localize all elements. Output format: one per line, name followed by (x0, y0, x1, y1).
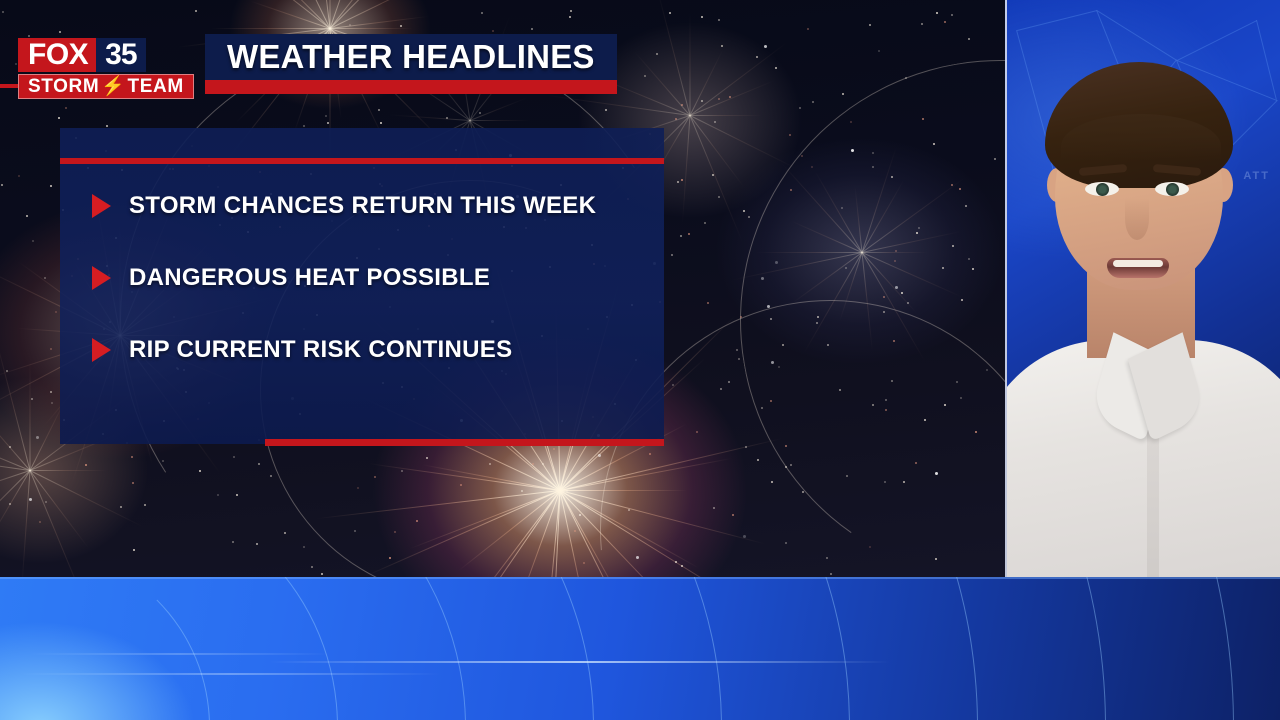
headline-text: STORM CHANCES RETURN THIS WEEK (129, 192, 596, 220)
list-item: RIP CURRENT RISK CONTINUES (92, 336, 652, 364)
page-title: WEATHER HEADLINES (205, 38, 595, 76)
headline-text: RIP CURRENT RISK CONTINUES (129, 336, 512, 364)
logo-top-row: FOX 35 (18, 38, 194, 72)
weather-headlines-banner: WEATHER HEADLINES (205, 34, 617, 80)
banner-arc-graphics (0, 577, 1280, 720)
video-area: ATT FOX 35 STORM ⚡ (0, 0, 1280, 577)
triangle-bullet-icon (92, 194, 111, 218)
list-item: STORM CHANCES RETURN THIS WEEK (92, 192, 652, 220)
triangle-bullet-icon (92, 338, 111, 362)
talent-eye-left (1085, 182, 1119, 196)
panel-top-rule (60, 158, 664, 164)
fox35-storm-team-logo: FOX 35 STORM ⚡ TEAM (18, 38, 194, 99)
iris-left (1096, 183, 1109, 196)
logo-accent-tick (0, 84, 18, 88)
talent-mouth (1107, 258, 1169, 278)
list-item: DANGEROUS HEAT POSSIBLE (92, 264, 652, 292)
channel-number: 35 (96, 38, 145, 72)
headline-text: DANGEROUS HEAT POSSIBLE (129, 264, 490, 292)
backdrop-watermark: ATT (1243, 170, 1270, 182)
headlines-panel: STORM CHANCES RETURN THIS WEEK DANGEROUS… (60, 128, 664, 444)
lower-third-banner (0, 577, 1280, 720)
lightning-bolt-icon: ⚡ (100, 77, 126, 96)
fox-wordmark: FOX (18, 38, 96, 72)
storm-team-wordmark: STORM ⚡ TEAM (18, 74, 194, 99)
team-word: TEAM (128, 75, 184, 98)
meteorologist-video-panel: ATT (1005, 0, 1280, 577)
talent-eye-right (1155, 182, 1189, 196)
triangle-bullet-icon (92, 266, 111, 290)
broadcast-screen: ATT FOX 35 STORM ⚡ (0, 0, 1280, 720)
storm-word: STORM (28, 75, 99, 98)
headlines-list: STORM CHANCES RETURN THIS WEEK DANGEROUS… (92, 192, 652, 364)
talent-nose (1125, 198, 1149, 240)
banner-red-accent-bar (205, 80, 617, 94)
iris-right (1166, 183, 1179, 196)
panel-bottom-rule (265, 439, 664, 446)
